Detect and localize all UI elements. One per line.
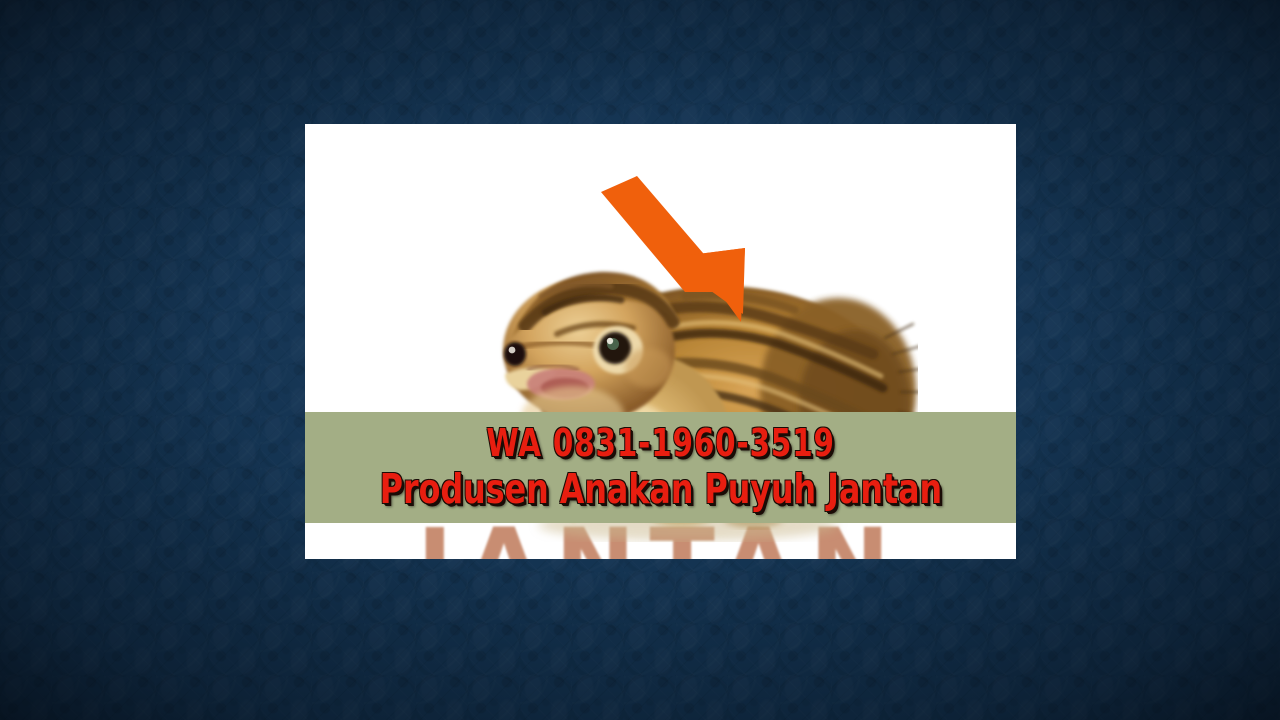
image-panel: JANTAN (305, 124, 1016, 559)
orange-arrow-icon (593, 174, 773, 324)
caption-band-content: WA 0831-1960-3519 Produsen Anakan Puyuh … (305, 412, 1016, 523)
caption-band: WA 0831-1960-3519 Produsen Anakan Puyuh … (305, 412, 1016, 523)
whatsapp-phone-line: WA 0831-1960-3519 (486, 424, 834, 463)
tagline: Produsen Anakan Puyuh Jantan (379, 469, 941, 511)
slide-canvas: JANTAN (0, 0, 1280, 720)
